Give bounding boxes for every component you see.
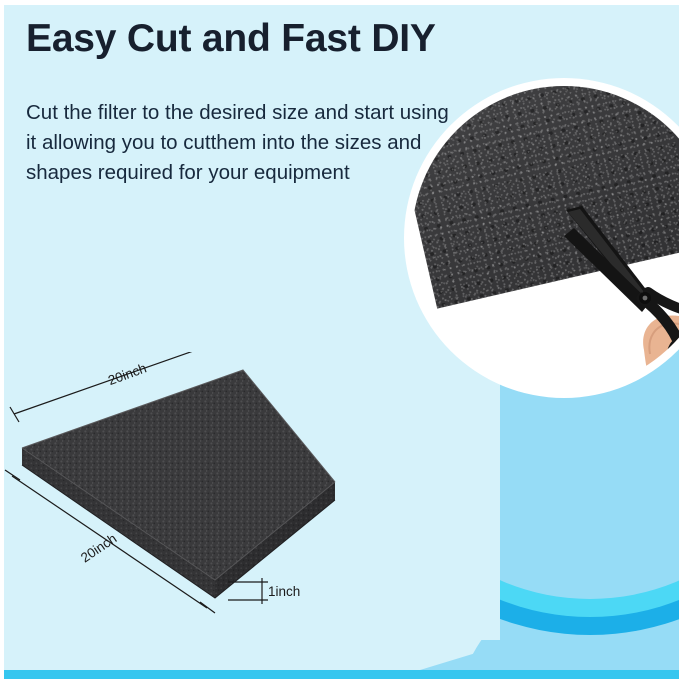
body-paragraph: Cut the filter to the desired size and s… (26, 98, 446, 188)
infographic-canvas: Easy Cut and Fast DIY Cut the filter to … (0, 0, 679, 679)
dimension-label-thickness: 1inch (268, 584, 300, 599)
body-line-1: Cut the filter to the desired size and s… (26, 98, 446, 128)
margin-left (0, 0, 4, 679)
bottom-accent-strip (0, 670, 679, 679)
body-line-2: it allowing you to cutthem into the size… (26, 128, 446, 158)
page-title: Easy Cut and Fast DIY (26, 17, 436, 61)
body-line-3: shapes required for your equipment (26, 158, 446, 188)
dimension-line-thickness (228, 578, 268, 604)
scissors-icon (562, 206, 679, 390)
foam-top-face (22, 370, 335, 580)
margin-top (0, 0, 679, 5)
